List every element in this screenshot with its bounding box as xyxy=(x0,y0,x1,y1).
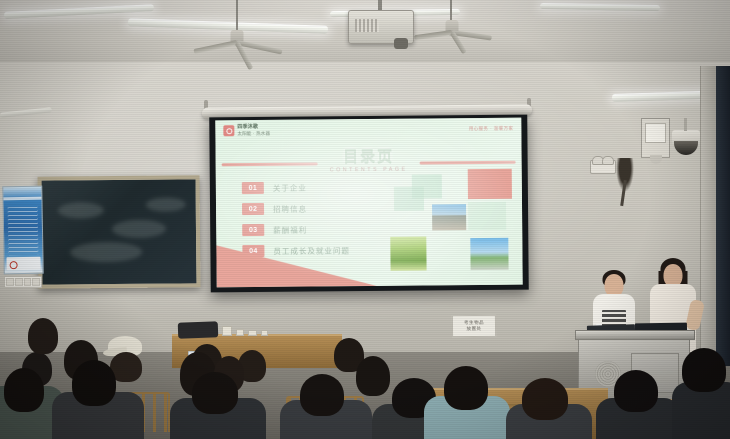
wall-information-poster xyxy=(2,186,44,275)
presentation-slide: 四季沐歌 太阳能 · 热水器 用心服务 · 温暖万家 目录页 CONTENTS … xyxy=(215,118,522,288)
fan-rod xyxy=(450,0,452,22)
audience-head xyxy=(682,348,726,392)
ceiling-fan xyxy=(412,20,492,46)
desk-items xyxy=(222,326,268,336)
projector-lens-icon xyxy=(394,38,408,49)
contents-item: 03 薪酬福利 xyxy=(242,223,350,236)
audience-head xyxy=(522,378,568,420)
light-switch[interactable] xyxy=(32,278,40,286)
company-logo-icon xyxy=(223,125,234,136)
audience-head xyxy=(28,318,58,354)
security-camera-icon xyxy=(672,130,700,146)
audience-head xyxy=(356,356,390,396)
desk-object xyxy=(261,330,268,336)
audience-head xyxy=(300,374,344,416)
light-switch[interactable] xyxy=(6,278,14,286)
projector-vent xyxy=(355,19,379,32)
light-switch-panel[interactable] xyxy=(4,276,42,288)
contents-item: 04 员工成长及就业问题 xyxy=(242,244,350,257)
desk-object xyxy=(236,329,244,336)
classroom-photo: 四季沐歌 太阳能 · 热水器 用心服务 · 温暖万家 目录页 CONTENTS … xyxy=(0,0,730,439)
black-bag xyxy=(178,321,219,338)
contents-item-label: 薪酬福利 xyxy=(273,224,307,235)
mosaic-photo-forest xyxy=(390,237,426,271)
emergency-light xyxy=(590,160,616,174)
lectern-top-surface xyxy=(575,330,695,340)
camera-mount xyxy=(684,118,687,131)
audience-head xyxy=(444,366,488,410)
mosaic-tile-green xyxy=(394,187,424,211)
light-switch[interactable] xyxy=(15,278,23,286)
projection-screen-surface: 四季沐歌 太阳能 · 热水器 用心服务 · 温暖万家 目录页 CONTENTS … xyxy=(215,118,522,288)
blackboard xyxy=(38,175,201,288)
window-curtain xyxy=(716,66,730,366)
desk-object xyxy=(248,330,257,336)
mosaic-photo-road xyxy=(470,238,508,270)
slide-logo-text: 四季沐歌 太阳能 · 热水器 xyxy=(237,125,270,136)
audience-head xyxy=(4,368,44,412)
mosaic-photo-bridge xyxy=(432,204,466,230)
mosaic-tile-salmon xyxy=(468,169,512,199)
electrical-panel-box xyxy=(641,118,670,158)
contents-item-label: 员工成长及就业问题 xyxy=(273,245,350,257)
projection-screen: 四季沐歌 太阳能 · 热水器 用心服务 · 温暖万家 目录页 CONTENTS … xyxy=(209,115,529,293)
exposed-wall-wiring xyxy=(616,158,634,192)
chalk-smudge xyxy=(146,197,186,211)
light-switch[interactable] xyxy=(24,278,32,286)
ceiling-fan xyxy=(192,30,282,60)
contents-item-number: 01 xyxy=(242,182,264,194)
poster-text-lines xyxy=(8,207,39,256)
slide-top-right-note: 用心服务 · 温暖万家 xyxy=(469,126,514,132)
poster-header-band xyxy=(3,197,41,201)
chalk-smudge xyxy=(112,220,166,238)
ceiling-projector xyxy=(348,10,414,44)
chalk-smudge xyxy=(58,202,104,218)
mosaic-tile-pale xyxy=(468,202,506,230)
fan-rod xyxy=(236,0,238,32)
panel-face xyxy=(645,123,666,143)
chalk-smudge xyxy=(70,242,142,263)
contents-item: 02 招聘信息 xyxy=(242,202,350,215)
audience-head xyxy=(72,360,116,406)
desk-object xyxy=(222,326,232,336)
contents-item-label: 关于企业 xyxy=(273,182,307,193)
slide-logo: 四季沐歌 太阳能 · 热水器 xyxy=(223,125,270,136)
poster-footer-logo xyxy=(6,257,40,271)
audience-head xyxy=(192,372,238,414)
wall-sign: 考生物品 放置处 xyxy=(452,315,496,337)
contents-item: 01 关于企业 xyxy=(242,181,350,194)
contents-item-number: 03 xyxy=(242,224,264,236)
fan-blade xyxy=(414,30,452,40)
contents-item-number: 02 xyxy=(242,203,264,215)
wall-sign-line-2: 放置处 xyxy=(467,326,482,332)
contents-item-label: 招聘信息 xyxy=(273,203,307,214)
slide-contents-list: 01 关于企业 02 招聘信息 03 薪酬福利 04 员工成长及就业问题 xyxy=(242,181,350,266)
fan-blade xyxy=(193,40,237,54)
company-tagline: 太阳能 · 热水器 xyxy=(237,131,270,136)
slide-photo-mosaic xyxy=(394,166,519,285)
audience-head xyxy=(614,370,658,412)
